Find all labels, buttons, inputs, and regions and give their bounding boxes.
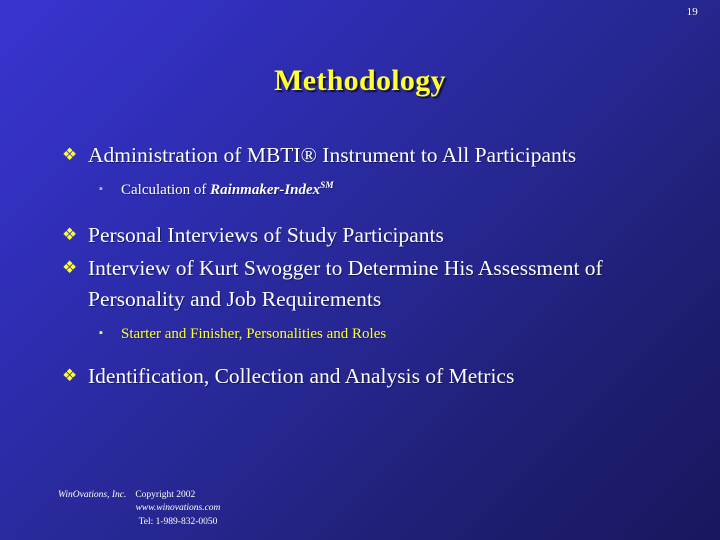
bullet-text: Administration of MBTI® Instrument to Al…: [88, 140, 674, 171]
presentation-slide: 19 Methodology ❖ Administration of MBTI®…: [0, 0, 720, 540]
diamond-cluster-bullet-icon: ❖: [62, 140, 88, 169]
bullet-text: Interview of Kurt Swogger to Determine H…: [88, 253, 674, 315]
footer-company-line: WinOvations, Inc.Copyright 2002: [58, 489, 298, 502]
slide-body: ❖ Administration of MBTI® Instrument to …: [62, 140, 674, 394]
diamond-cluster-bullet-icon: ❖: [62, 253, 88, 282]
sub-bullet-item-starter-finisher: ▪ Starter and Finisher, Personalities an…: [62, 323, 674, 346]
square-bullet-icon: ▪: [99, 179, 121, 200]
bullet-item-administration: ❖ Administration of MBTI® Instrument to …: [62, 140, 674, 171]
bullet-item-personal-interviews: ❖ Personal Interviews of Study Participa…: [62, 220, 674, 251]
sub-bullet-item-rainmaker-index: ▪ Calculation of Rainmaker-IndexSM: [62, 179, 674, 202]
footer-phone: Tel: 1-989-832-0050: [58, 516, 298, 529]
bullet-item-kurt-swogger-interview: ❖ Interview of Kurt Swogger to Determine…: [62, 253, 674, 315]
footer-website: www.winovations.com: [58, 502, 298, 515]
service-mark-superscript: SM: [320, 181, 333, 191]
bullet-item-metrics: ❖ Identification, Collection and Analysi…: [62, 361, 674, 392]
bullet-text: Identification, Collection and Analysis …: [88, 361, 674, 392]
sub-bullet-text-emphasis: Rainmaker-Index: [210, 182, 320, 198]
square-bullet-icon: ▪: [99, 323, 121, 344]
sub-bullet-text: Starter and Finisher, Personalities and …: [121, 323, 386, 346]
footer-company-name: WinOvations, Inc.: [58, 490, 126, 500]
slide-footer: WinOvations, Inc.Copyright 2002 www.wino…: [58, 489, 298, 529]
diamond-cluster-bullet-icon: ❖: [62, 361, 88, 390]
page-title: Methodology: [0, 64, 720, 98]
bullet-text: Personal Interviews of Study Participant…: [88, 220, 674, 251]
sub-bullet-text: Calculation of Rainmaker-IndexSM: [121, 179, 334, 202]
sub-bullet-text-prefix: Calculation of: [121, 182, 210, 198]
footer-copyright: Copyright 2002: [135, 490, 195, 500]
page-number: 19: [687, 6, 698, 18]
diamond-cluster-bullet-icon: ❖: [62, 220, 88, 249]
